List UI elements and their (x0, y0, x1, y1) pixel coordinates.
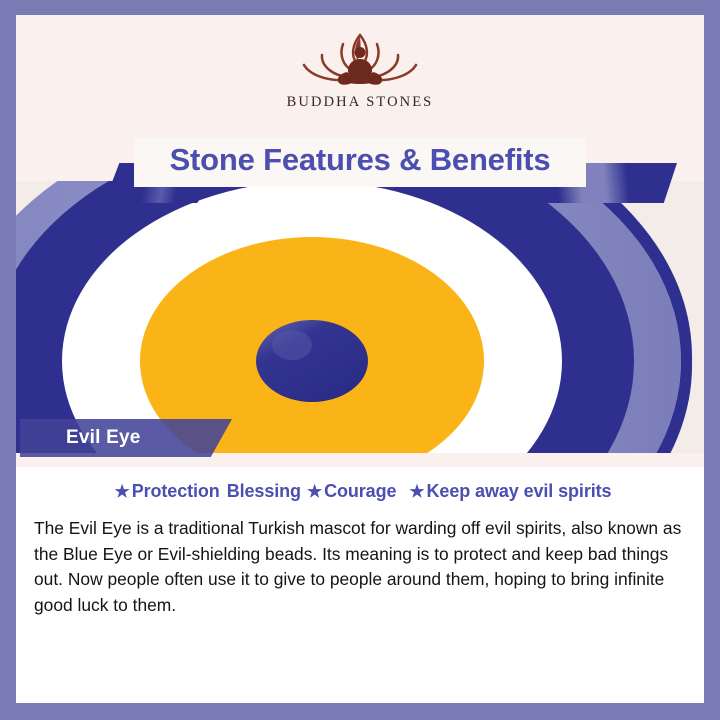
feature-list: ★ProtectionBlessing★Courage★Keep away ev… (16, 481, 704, 502)
brand-name: BUDDHA STONES (287, 94, 434, 111)
feature-label-keep-away: Keep away evil spirits (427, 481, 612, 501)
content-panel: ★ProtectionBlessing★Courage★Keep away ev… (16, 467, 704, 703)
feature-label-blessing: Blessing (227, 481, 301, 501)
evil-eye-illustration (16, 181, 704, 453)
poster-inner: BUDDHA STONES Stone Features & Benefits (16, 15, 704, 703)
lotus-meditation-icon (291, 29, 429, 91)
poster-frame: BUDDHA STONES Stone Features & Benefits (0, 0, 720, 720)
evil-eye-graphic (16, 181, 704, 453)
page-title: Stone Features & Benefits (134, 133, 586, 187)
feature-label-courage: Courage (324, 481, 396, 501)
star-icon-3: ★ (409, 482, 424, 501)
description-text: The Evil Eye is a traditional Turkish ma… (34, 516, 686, 618)
star-icon-2: ★ (307, 482, 322, 501)
brand-header: BUDDHA STONES (16, 15, 704, 137)
star-icon-1: ★ (115, 482, 130, 501)
stone-name-label: Evil Eye (66, 419, 140, 457)
feature-label-protection: Protection (132, 481, 220, 501)
